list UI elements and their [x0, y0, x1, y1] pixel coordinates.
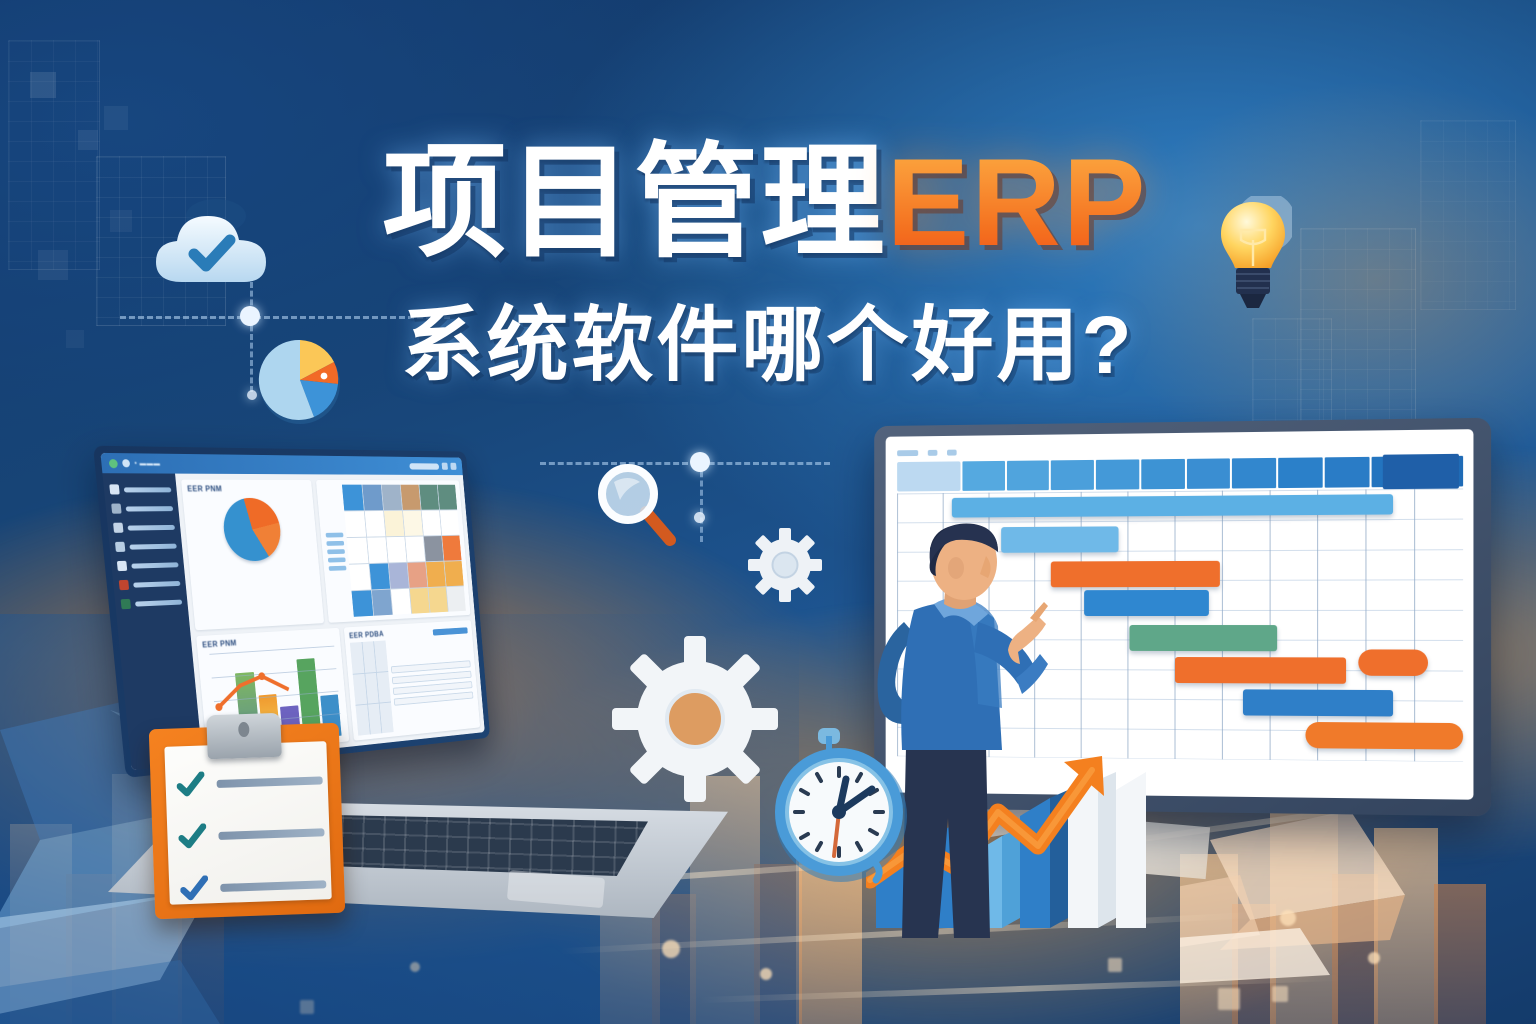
gantt-header-cell[interactable] [962, 461, 1004, 491]
hero-banner: 项目管理ERP 系统软件哪个好用? [0, 0, 1536, 1024]
bokeh-dot [1368, 952, 1380, 964]
thumbnail-grid [350, 641, 394, 736]
gantt-header-cell[interactable] [1096, 459, 1139, 489]
clipboard-checklist [149, 723, 346, 920]
card-pie-chart[interactable]: EER PNM [181, 480, 324, 631]
gantt-task-bar[interactable] [1243, 690, 1393, 717]
primary-action-button[interactable] [433, 627, 468, 635]
nav-icon [115, 542, 125, 552]
nav-icon [113, 523, 123, 533]
checkmark-icon [176, 771, 205, 798]
row-label [326, 532, 344, 537]
gantt-header-cell[interactable] [1007, 460, 1050, 490]
nav-icon [111, 504, 121, 514]
notifications-icon[interactable] [442, 463, 448, 470]
dashboard-window: • ▬▬▬ [100, 453, 484, 770]
gantt-header-cell[interactable] [1141, 459, 1184, 489]
decor-square [104, 106, 128, 130]
sidebar-item-5[interactable] [117, 559, 179, 571]
checklist-label [220, 880, 326, 892]
gantt-corner-cell [897, 461, 960, 491]
decor-square [30, 72, 56, 98]
search-input[interactable] [409, 463, 439, 470]
pie-chart [221, 498, 283, 562]
sidebar-item-2[interactable] [111, 503, 173, 513]
app-dot [122, 459, 130, 467]
headline-line-1: 项目管理ERP [383, 140, 1154, 266]
row-label [329, 565, 347, 570]
nav-label [135, 599, 182, 606]
status-dot [109, 459, 118, 468]
bokeh-dot [760, 968, 772, 980]
checklist-item[interactable] [176, 767, 323, 798]
nav-label [131, 562, 178, 568]
sidebar-item-7[interactable] [121, 597, 183, 610]
checklist-item[interactable] [178, 819, 325, 850]
alarm-clock-icon [768, 728, 914, 888]
trend-line [212, 668, 302, 714]
gantt-header-cell[interactable] [1232, 458, 1276, 489]
headline-erp: ERP [887, 134, 1154, 272]
clock-center-pin [832, 805, 846, 819]
bokeh-square [300, 1000, 314, 1014]
headline-line-2: 系统软件哪个好用? [0, 278, 1536, 397]
gantt-header-cell[interactable] [1187, 458, 1231, 489]
bokeh-square [1218, 988, 1240, 1010]
checklist-label [217, 776, 323, 788]
row-label [328, 557, 346, 562]
table-grid [342, 485, 466, 618]
headline-cn: 项目管理 [383, 134, 887, 272]
dashboard-titlebar: • ▬▬▬ [100, 453, 462, 475]
nav-label [124, 487, 172, 492]
sidebar-item-1[interactable] [109, 484, 171, 494]
card-title: EER PNM [187, 484, 308, 493]
row-label [327, 541, 345, 546]
gantt-header-row [897, 456, 1463, 492]
toolbar-button[interactable] [947, 450, 957, 456]
sidebar-item-4[interactable] [115, 541, 177, 552]
toolbar-button[interactable] [928, 450, 938, 456]
nav-icon [121, 599, 131, 609]
bokeh-square [1108, 958, 1122, 972]
gantt-task-bar[interactable] [1175, 657, 1347, 684]
gantt-task-bar[interactable] [1085, 590, 1209, 616]
card-list[interactable]: EER PDBA [344, 620, 480, 740]
nav-icon [109, 484, 119, 494]
nav-label [127, 524, 175, 530]
gantt-task-bar[interactable] [952, 495, 1393, 518]
titlebar-actions [409, 462, 456, 470]
card-matrix-table[interactable] [316, 480, 470, 623]
card-title: EER PDBA [349, 630, 384, 640]
checklist-item[interactable] [180, 871, 327, 902]
dashboard-row-top: EER PNM [181, 480, 470, 631]
gantt-header-cell[interactable] [1278, 457, 1322, 488]
gantt-header-cell[interactable] [1051, 460, 1094, 490]
gantt-task-bar[interactable] [1306, 722, 1463, 750]
toolbar-button[interactable] [897, 450, 918, 456]
checkmark-icon [180, 875, 209, 902]
bokeh-square [1272, 986, 1288, 1002]
clip-hole [238, 722, 250, 737]
gantt-task-bar[interactable] [1051, 560, 1220, 586]
gantt-task-bar[interactable] [1129, 625, 1277, 651]
checklist-rows [176, 767, 326, 902]
app-brand-label: • ▬▬▬ [134, 460, 160, 467]
nav-label [126, 506, 174, 511]
bokeh-dot [1280, 910, 1296, 926]
gantt-milestone-badge[interactable] [1383, 454, 1459, 489]
bokeh-dot [410, 962, 420, 972]
checkmark-icon [178, 823, 207, 850]
row-label [327, 549, 345, 554]
nav-icon [119, 580, 129, 590]
nav-label [133, 580, 180, 587]
list-rows [389, 635, 476, 731]
clipboard-clip [206, 713, 281, 760]
sidebar-item-6[interactable] [119, 578, 181, 590]
sidebar-item-3[interactable] [113, 522, 175, 533]
nav-label [129, 543, 176, 549]
list-body [350, 635, 476, 735]
nav-icon [117, 561, 127, 571]
headline-block: 项目管理ERP 系统软件哪个好用? [0, 140, 1536, 397]
gantt-header-cell[interactable] [1325, 457, 1370, 488]
avatar[interactable] [450, 463, 456, 470]
checklist-label [218, 828, 324, 840]
trousers [902, 746, 990, 938]
gear-icon-small [748, 528, 822, 602]
matrix-table [322, 485, 466, 619]
ear [948, 557, 964, 579]
bokeh-dot [662, 940, 680, 958]
gantt-toolbar [897, 444, 1463, 457]
gantt-milestone-bar[interactable] [1358, 650, 1428, 677]
